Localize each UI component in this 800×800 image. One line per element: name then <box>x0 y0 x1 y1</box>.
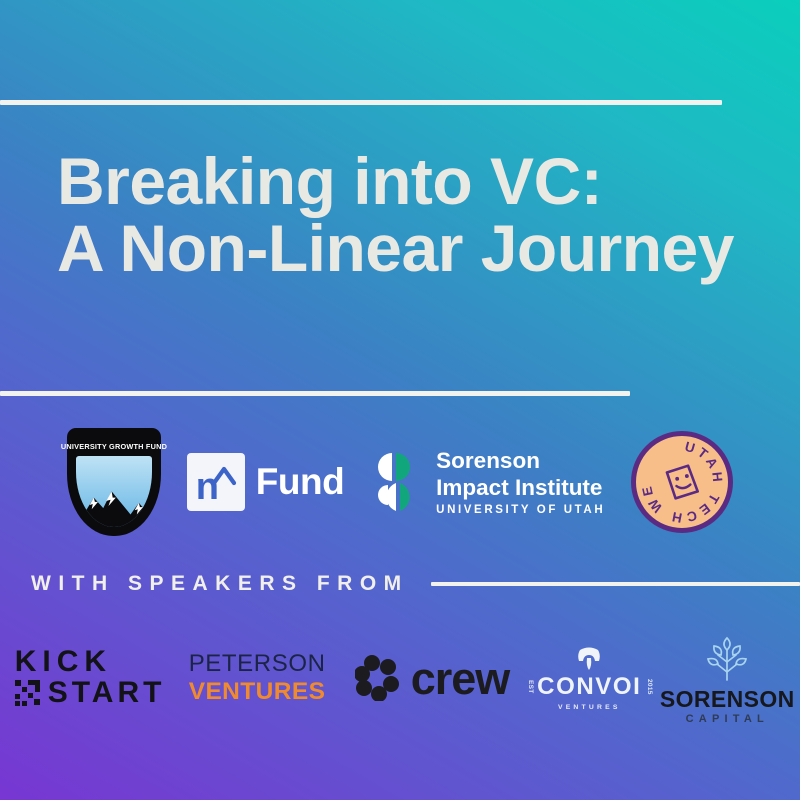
title-line-1: Breaking into VC: <box>57 148 777 215</box>
title-line-2: A Non-Linear Journey <box>57 215 777 282</box>
divider-speakers <box>431 582 800 586</box>
sii-line-2: Impact Institute <box>436 475 605 500</box>
n-fund-word: Fund <box>256 461 344 503</box>
logo-sorenson-capital: SORENSON CAPITAL <box>669 632 785 725</box>
sorenson-capital-tree-icon <box>698 632 756 684</box>
sorenson-capital-line-1: SORENSON <box>660 688 795 711</box>
crew-dots-icon <box>355 655 401 701</box>
event-poster: Breaking into VC: A Non-Linear Journey U… <box>0 0 800 800</box>
logo-utah-tech-week: UTAH TECH WEEK <box>631 431 733 533</box>
divider-middle <box>0 391 630 396</box>
convoi-left-tag: EST <box>527 680 534 694</box>
speakers-from-section: WITH SPEAKERS FROM <box>0 566 800 602</box>
utah-tech-week-badge-icon: UTAH TECH WEEK <box>636 436 728 528</box>
sorenson-impact-mark-icon <box>370 451 424 513</box>
convoi-subtitle: VENTURES <box>558 704 621 711</box>
sii-line-1: Sorenson <box>436 448 605 473</box>
shield-banner-text: UNIVERSITY GROWTH FUND <box>73 439 155 454</box>
mountain-icon <box>76 483 152 527</box>
peterson-line-1: PETERSON <box>189 651 321 678</box>
logo-peterson-ventures: PETERSON VENTURES <box>189 651 321 705</box>
convoi-wordmark: CONVOI <box>537 675 641 699</box>
logo-n-fund: n Fund <box>187 453 344 511</box>
logo-convoi-ventures: EST CONVOI 2015 VENTURES <box>543 646 635 711</box>
peterson-line-2: VENTURES <box>189 678 321 705</box>
caret-icon <box>211 464 237 486</box>
logo-kickstart: KICK START <box>15 647 155 708</box>
kickstart-line-2-row: START <box>15 678 155 709</box>
convoi-right-tag: 2015 <box>645 679 652 695</box>
logo-sorenson-impact-institute: Sorenson Impact Institute UNIVERSITY OF … <box>370 448 605 515</box>
sponsor-logo-row: KICK START PETERSON VENTURES <box>0 628 800 728</box>
sii-line-3: UNIVERSITY OF UTAH <box>436 504 605 516</box>
partner-logo-row: UNIVERSITY GROWTH FUND n Fund Sorenso <box>0 424 800 540</box>
page-title: Breaking into VC: A Non-Linear Journey <box>57 148 777 283</box>
sorenson-impact-wordmark: Sorenson Impact Institute UNIVERSITY OF … <box>436 448 605 515</box>
elephant-icon <box>574 646 604 672</box>
n-fund-mark: n <box>187 453 245 511</box>
divider-top <box>0 100 722 105</box>
shield-sky <box>76 456 152 527</box>
speakers-from-label: WITH SPEAKERS FROM <box>31 572 409 596</box>
kickstart-line-2: START <box>48 678 166 709</box>
convoi-name-row: EST CONVOI 2015 <box>527 675 652 699</box>
pixel-arrow-icon <box>15 678 45 708</box>
sorenson-capital-line-2: CAPITAL <box>686 714 769 725</box>
logo-university-growth-fund: UNIVERSITY GROWTH FUND <box>67 428 161 536</box>
svg-text:UTAH TECH WEEK: UTAH TECH WEEK <box>636 436 725 525</box>
logo-crew: crew <box>355 655 510 701</box>
kickstart-line-1: KICK <box>15 647 155 678</box>
crew-wordmark: crew <box>411 656 510 701</box>
